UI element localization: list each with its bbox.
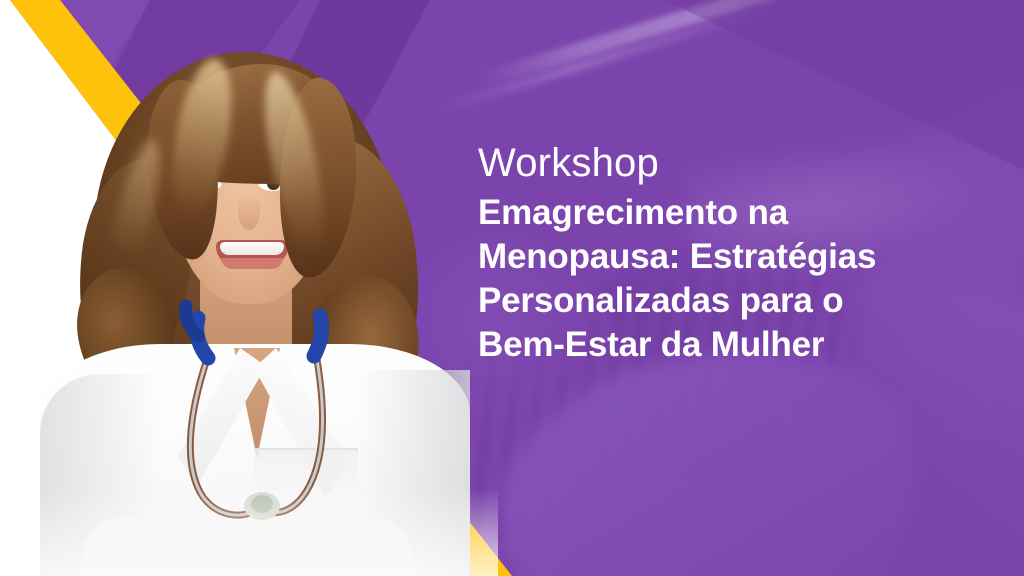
headline-line-3: Personalizadas para o: [478, 279, 948, 323]
headline-line-4: Bem-Estar da Mulher: [478, 323, 948, 367]
promo-banner: Workshop Emagrecimento na Menopausa: Est…: [0, 0, 1024, 576]
eyebrow-label: Workshop: [478, 142, 948, 185]
headline-line-2: Menopausa: Estratégias: [478, 235, 948, 279]
photo-bottom-fade: [18, 488, 498, 576]
headline-line-1: Emagrecimento na: [478, 191, 948, 235]
page-title: Emagrecimento na Menopausa: Estratégias …: [478, 191, 948, 367]
text-block: Workshop Emagrecimento na Menopausa: Est…: [478, 142, 948, 368]
nose: [238, 194, 260, 230]
lower-lip: [221, 258, 283, 269]
doctor-photo: [58, 18, 458, 576]
teeth: [220, 242, 284, 255]
